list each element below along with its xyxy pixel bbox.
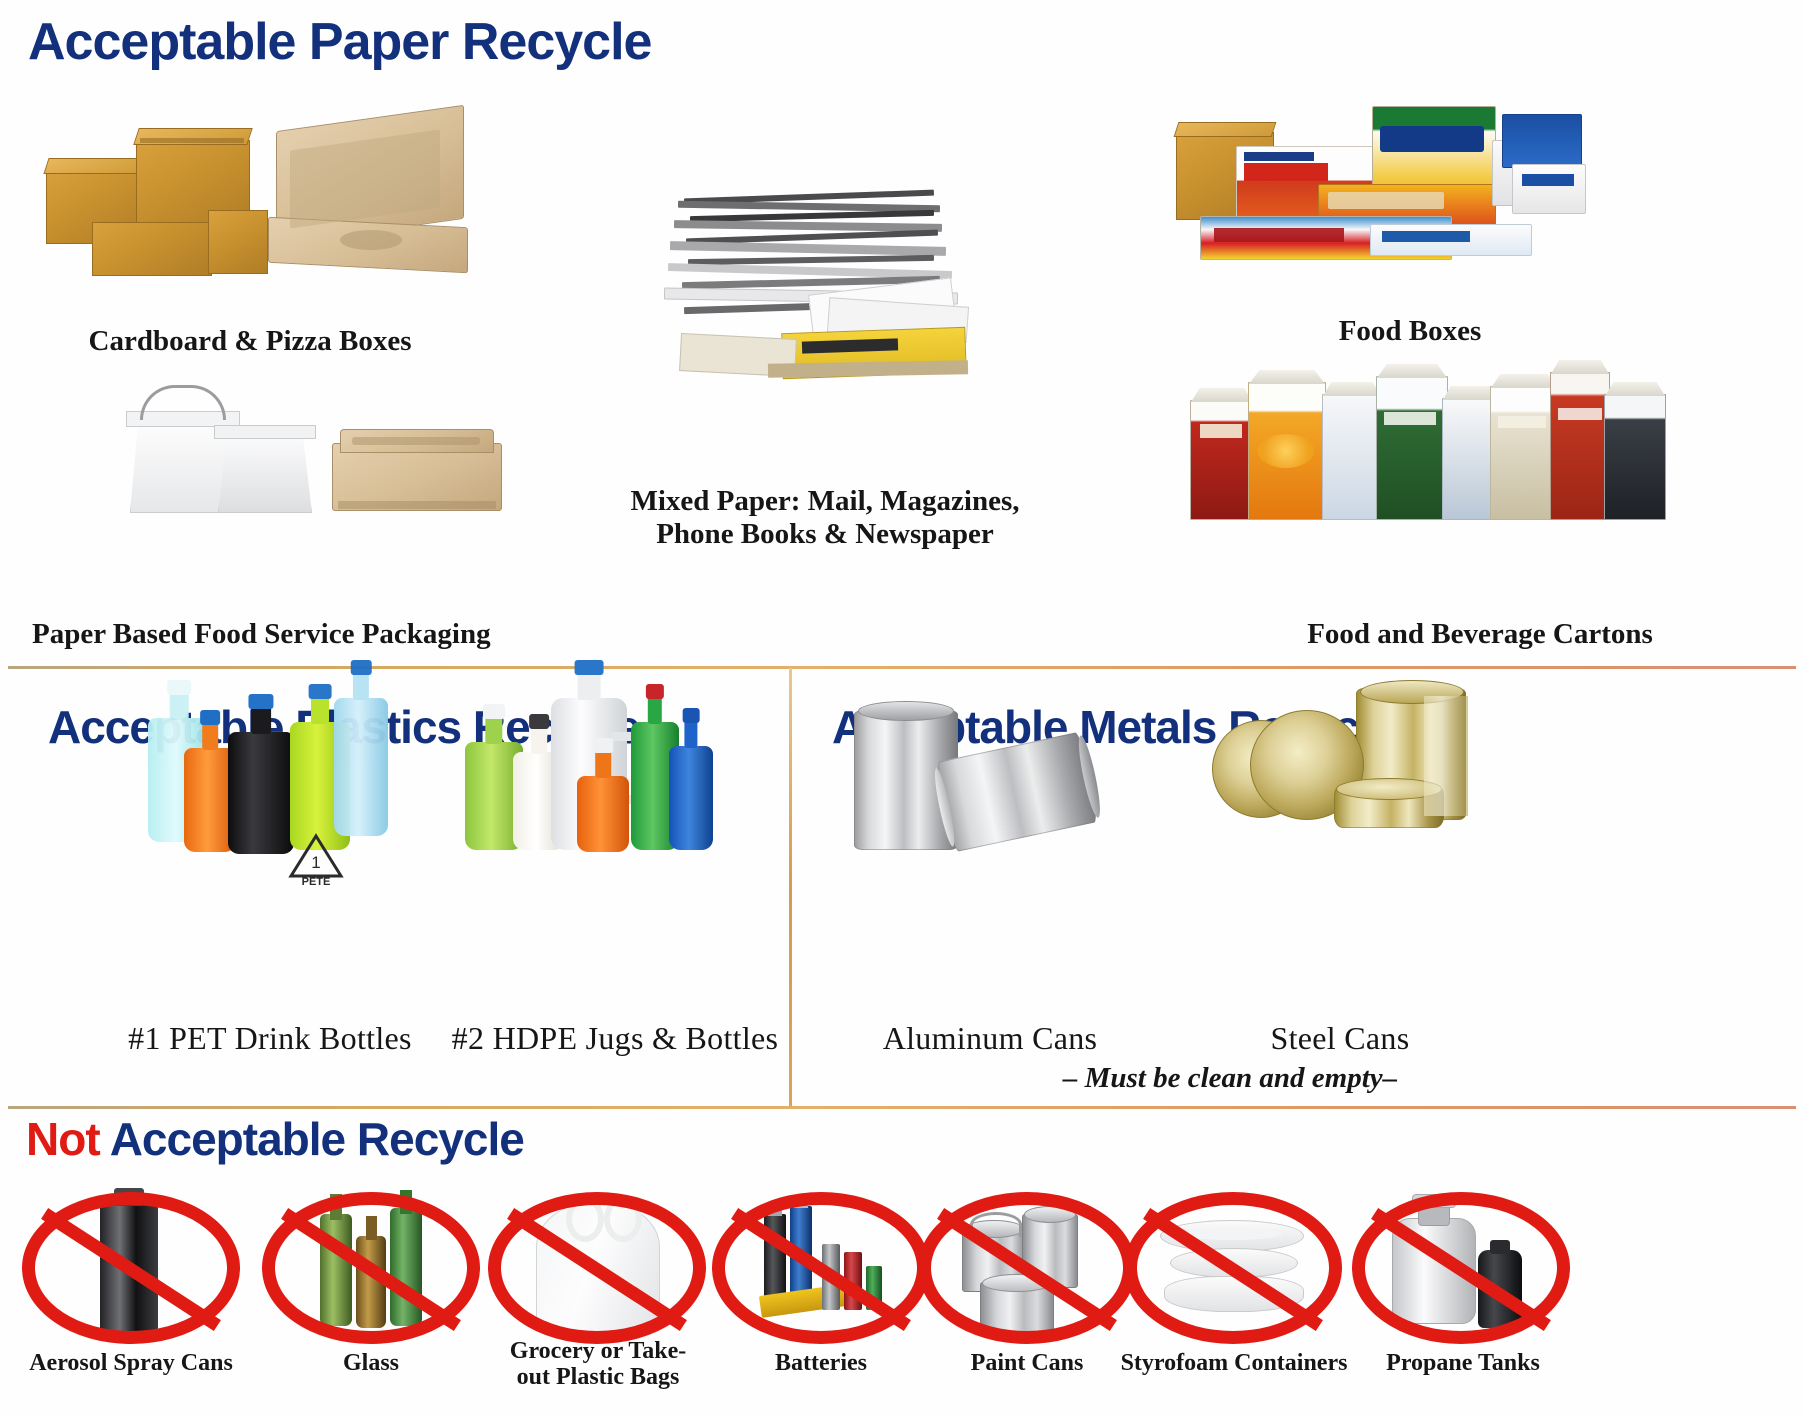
hdpe-jugs-and-bottles-photo <box>465 680 715 875</box>
paper-section-heading: Acceptable Paper Recycle <box>28 12 651 72</box>
not-item-batteries <box>712 1192 930 1344</box>
label-styrofoam: Styrofoam Containers <box>1110 1350 1358 1376</box>
metals-clean-empty-note: – Must be clean and empty– <box>980 1062 1480 1095</box>
divider-paper-bottom <box>8 666 1796 669</box>
not-item-paint-cans <box>918 1192 1136 1344</box>
not-item-aerosol-spray-cans <box>22 1192 240 1344</box>
divider-metals-bottom <box>8 1106 1796 1109</box>
caption-aluminum-cans: Aluminum Cans <box>830 1020 1150 1056</box>
pete-recycle-symbol: 1 <box>288 832 344 882</box>
mixed-paper-stack-photo <box>660 190 990 390</box>
svg-text:1: 1 <box>311 853 320 872</box>
caption-steel-cans: Steel Cans <box>1180 1020 1500 1056</box>
not-item-glass <box>262 1192 480 1344</box>
caption-mixed-paper: Mixed Paper: Mail, Magazines, Phone Book… <box>565 485 1085 551</box>
pete-symbol-label: PETE <box>288 876 344 888</box>
not-acceptable-heading: Not Acceptable Recycle <box>26 1112 524 1166</box>
caption-paper-food-service: Paper Based Food Service Packaging <box>10 618 612 651</box>
aluminum-cans-photo <box>850 690 1110 860</box>
cardboard-and-pizza-boxes-photo <box>40 110 470 275</box>
label-plastic-bags: Grocery or Take- out Plastic Bags <box>478 1338 718 1391</box>
steel-cans-photo <box>1180 680 1480 860</box>
not-word: Not <box>26 1113 100 1165</box>
label-aerosol-spray-cans: Aerosol Spray Cans <box>6 1350 256 1376</box>
caption-pet-bottles: #1 PET Drink Bottles <box>70 1020 470 1056</box>
acceptable-recycle-words: Acceptable Recycle <box>100 1113 524 1165</box>
label-propane-tanks: Propane Tanks <box>1348 1350 1578 1376</box>
caption-food-beverage-cartons: Food and Beverage Cartons <box>1160 618 1800 651</box>
label-paint-cans: Paint Cans <box>918 1350 1136 1376</box>
not-item-styrofoam <box>1124 1192 1342 1344</box>
not-item-plastic-bags <box>488 1192 706 1344</box>
caption-hdpe-jugs: #2 HDPE Jugs & Bottles <box>420 1020 810 1056</box>
label-glass: Glass <box>262 1350 480 1376</box>
food-and-beverage-cartons-photo <box>1190 372 1700 522</box>
caption-cardboard-pizza-boxes: Cardboard & Pizza Boxes <box>20 325 480 358</box>
caption-food-boxes: Food Boxes <box>1180 315 1640 348</box>
not-item-propane-tanks <box>1352 1192 1570 1344</box>
label-batteries: Batteries <box>712 1350 930 1376</box>
food-boxes-photo <box>1170 100 1690 265</box>
paper-food-service-packaging-photo <box>100 385 500 530</box>
pet-drink-bottles-photo: 1 PETE <box>148 690 398 870</box>
